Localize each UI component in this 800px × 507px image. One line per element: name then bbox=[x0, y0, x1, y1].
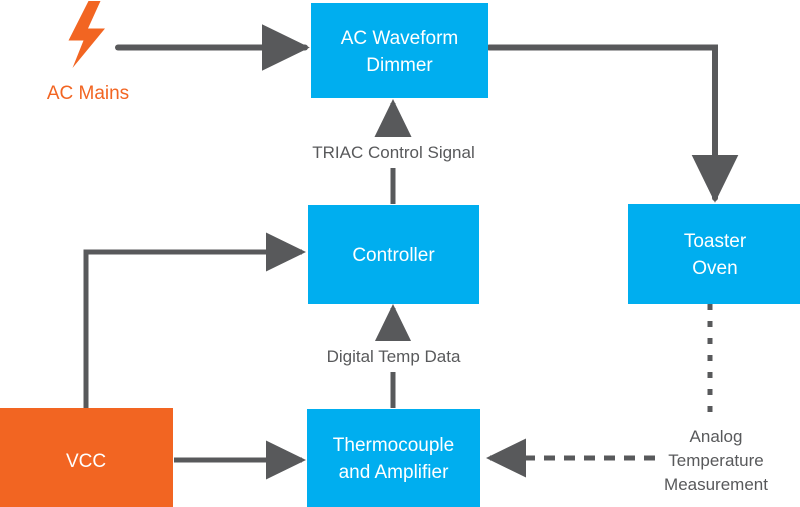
node-controller-label-line1: Controller bbox=[352, 245, 435, 266]
node-ac-waveform-dimmer-box[interactable] bbox=[311, 3, 488, 98]
node-ac-waveform-dimmer-label-line2: Dimmer bbox=[366, 55, 433, 76]
edge-label-digital-temp-data-text: Digital Temp Data bbox=[327, 347, 461, 366]
edge-label-analog-temp-line3: Measurement bbox=[664, 475, 768, 494]
diagram-canvas: AC Mains AC Waveform Dimmer Toaster Oven… bbox=[0, 0, 800, 507]
node-controller[interactable]: Controller bbox=[308, 205, 479, 304]
node-vcc-label-line1: VCC bbox=[66, 451, 106, 472]
edge-dimmer-to-oven bbox=[489, 48, 715, 199]
node-toaster-oven-box[interactable] bbox=[628, 204, 800, 304]
edge-label-analog-temp-line1: Analog bbox=[690, 427, 743, 446]
edge-vcc-to-controller-line bbox=[86, 252, 302, 410]
node-vcc[interactable]: VCC bbox=[0, 408, 173, 507]
node-thermocouple-and-amplifier-label-line1: Thermocouple bbox=[333, 435, 454, 456]
edge-label-analog-temperature-measurement: Analog Temperature Measurement bbox=[664, 427, 768, 494]
node-toaster-oven-label-line2: Oven bbox=[692, 258, 737, 279]
edge-label-analog-temp-line2: Temperature bbox=[668, 451, 763, 470]
edge-vcc-to-controller bbox=[86, 252, 302, 410]
node-ac-waveform-dimmer-label-line1: AC Waveform bbox=[341, 28, 459, 49]
lightning-bolt-icon bbox=[69, 1, 106, 68]
node-ac-waveform-dimmer[interactable]: AC Waveform Dimmer bbox=[311, 3, 488, 98]
node-ac-mains[interactable]: AC Mains bbox=[47, 1, 129, 104]
node-ac-mains-label: AC Mains bbox=[47, 83, 129, 104]
node-toaster-oven-label-line1: Toaster bbox=[684, 231, 747, 252]
node-toaster-oven[interactable]: Toaster Oven bbox=[628, 204, 800, 304]
edge-oven-to-thermocouple bbox=[490, 304, 710, 458]
node-thermocouple-and-amplifier[interactable]: Thermocouple and Amplifier bbox=[307, 409, 480, 507]
edge-dimmer-to-oven-line bbox=[489, 48, 715, 199]
block-diagram: AC Mains AC Waveform Dimmer Toaster Oven… bbox=[0, 0, 800, 507]
edge-label-triac-control-signal: TRIAC Control Signal bbox=[285, 137, 502, 167]
node-thermocouple-and-amplifier-label-line2: and Amplifier bbox=[339, 462, 450, 483]
edge-label-triac-control-signal-text: TRIAC Control Signal bbox=[312, 143, 475, 162]
node-thermocouple-and-amplifier-box[interactable] bbox=[307, 409, 480, 507]
edge-label-digital-temp-data: Digital Temp Data bbox=[300, 341, 488, 371]
